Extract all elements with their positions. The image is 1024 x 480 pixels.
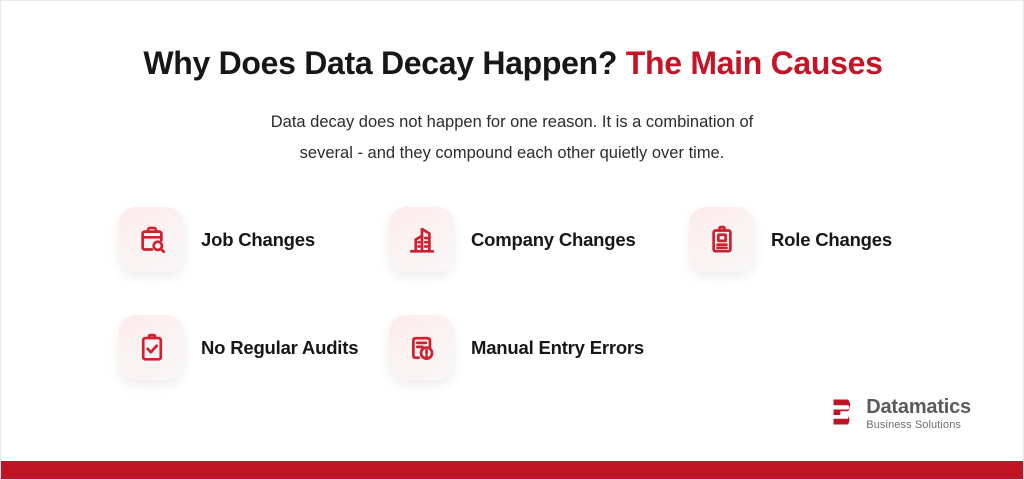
cause-card-role-changes[interactable]: Role Changes [689, 207, 919, 272]
brand-name: Datamatics [866, 397, 971, 417]
causes-row-1: Job Changes [119, 207, 919, 315]
brand-tagline: Business Solutions [866, 420, 971, 431]
cause-card-label: Job Changes [201, 229, 315, 251]
document-alert-icon [405, 331, 439, 365]
page-title-main: Why Does Data Decay Happen? [143, 45, 617, 81]
cause-icon-tile [389, 207, 454, 272]
page-subtitle-line-1: Data decay does not happen for one reaso… [182, 107, 842, 138]
clipboard-check-icon [135, 331, 169, 365]
cause-icon-tile [389, 315, 454, 380]
bottom-accent-bar [1, 461, 1024, 479]
cause-card-label: Role Changes [771, 229, 892, 251]
cause-icon-tile [119, 207, 184, 272]
cause-card-manual-entry-errors[interactable]: Manual Entry Errors [389, 315, 689, 380]
page-title: Why Does Data Decay Happen? The Main Cau… [1, 45, 1024, 82]
datamatics-d-mark-icon [832, 398, 858, 431]
cause-card-label: No Regular Audits [201, 337, 358, 359]
cause-icon-tile [689, 207, 754, 272]
page-subtitle-line-2: several - and they compound each other q… [182, 138, 842, 169]
cause-card-label: Manual Entry Errors [471, 337, 644, 359]
id-badge-icon [705, 223, 739, 257]
causes-row-2: No Regular Audits Man [119, 315, 919, 423]
causes-grid: Job Changes [119, 207, 919, 423]
cause-card-company-changes[interactable]: Company Changes [389, 207, 689, 272]
office-building-icon [405, 223, 439, 257]
brand-logo-text: Datamatics Business Solutions [866, 397, 971, 431]
cause-card-job-changes[interactable]: Job Changes [119, 207, 389, 272]
page-title-accent: The Main Causes [626, 45, 883, 81]
cause-card-no-regular-audits[interactable]: No Regular Audits [119, 315, 389, 380]
brand-logo: Datamatics Business Solutions [832, 397, 971, 431]
cause-icon-tile [119, 315, 184, 380]
slide-canvas: Why Does Data Decay Happen? The Main Cau… [0, 0, 1024, 480]
briefcase-search-icon [135, 223, 169, 257]
cause-card-label: Company Changes [471, 229, 636, 251]
page-subtitle: Data decay does not happen for one reaso… [182, 107, 842, 169]
